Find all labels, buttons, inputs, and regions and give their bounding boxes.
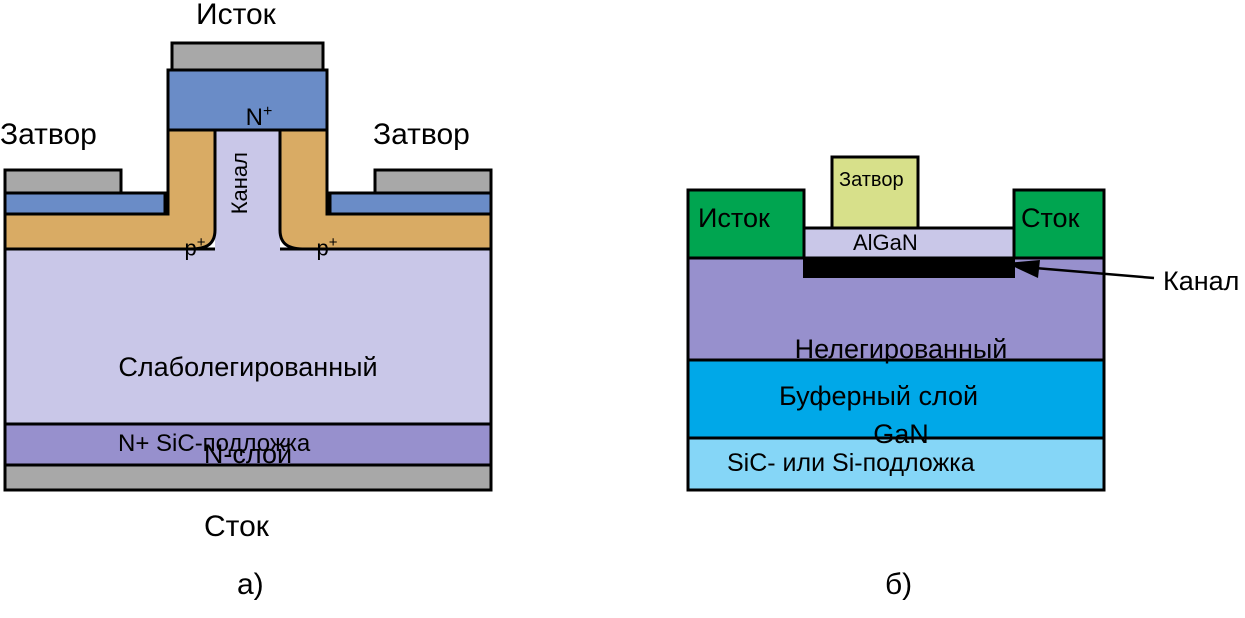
layer-n-drift-label: Слаболегированный N-слой	[73, 300, 423, 522]
panel-b-caption: б)	[885, 570, 912, 600]
panel-a-caption: а)	[237, 570, 264, 600]
panel-b-source-label: Исток	[698, 205, 770, 232]
p-plus-left-base: p	[184, 235, 196, 260]
layer-undoped-gan-label-line2: GaN	[691, 421, 1111, 448]
panel-a-channel-label: Канал	[229, 152, 251, 214]
n-plus-superscript: +	[263, 103, 272, 120]
layer-buffer-label: Буферный слой	[779, 383, 978, 410]
layer-undoped-gan-label-line1: Нелегированный	[691, 336, 1111, 363]
source-metal-contact	[172, 43, 323, 70]
p-plus-left-superscript: +	[197, 234, 206, 251]
panel-b-channel-callout-label: Канал	[1163, 268, 1239, 295]
region-2deg-channel	[804, 258, 1014, 277]
p-plus-right-base: p	[316, 235, 328, 260]
region-n-plus-gate-right	[330, 193, 491, 214]
panel-a-gate-label-right: Затвор	[373, 120, 470, 150]
panel-a-gate-label-left: Затвор	[0, 120, 97, 150]
region-p-plus-right-label: p+	[292, 213, 337, 281]
region-n-plus-source-label: N+	[219, 80, 272, 154]
layer-sic-substrate-label: N+ SiC-подложка	[118, 432, 310, 456]
n-plus-base: N	[246, 104, 263, 131]
panel-b-gate-label: Затвор	[839, 170, 904, 190]
layer-n-drift-label-line1: Слаболегированный	[73, 354, 423, 381]
semiconductor-cross-section-figure: Исток Затвор Затвор N+ Канал p+ p+ Слабо…	[0, 0, 1245, 618]
gate-electrode	[832, 157, 918, 228]
panel-b-drain-label: Сток	[1021, 205, 1079, 232]
region-p-plus-left-label: p+	[160, 213, 205, 281]
panel-a-drain-title: Сток	[204, 512, 269, 542]
region-n-plus-gate-left	[5, 193, 165, 214]
p-plus-right-superscript: +	[329, 234, 338, 251]
gate-metal-contact-right	[375, 170, 491, 193]
panel-a-source-title: Исток	[196, 0, 276, 30]
layer-sic-or-si-substrate-label: SiC- или Si-подложка	[727, 451, 975, 476]
gate-metal-contact-left	[5, 170, 121, 193]
layer-algan-barrier-label: AlGaN	[853, 232, 918, 254]
